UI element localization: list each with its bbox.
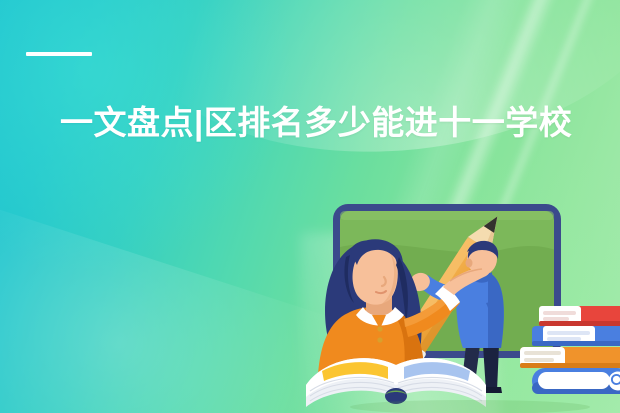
decorative-rule	[26, 52, 92, 56]
education-illustration	[300, 195, 620, 413]
open-book-icon	[306, 358, 486, 407]
search-input[interactable]	[538, 372, 610, 389]
search-bar	[532, 368, 620, 394]
page-title: 一文盘点|区排名多少能进十一学校	[60, 104, 572, 142]
article-cover-banner: 一文盘点|区排名多少能进十一学校	[0, 0, 620, 413]
